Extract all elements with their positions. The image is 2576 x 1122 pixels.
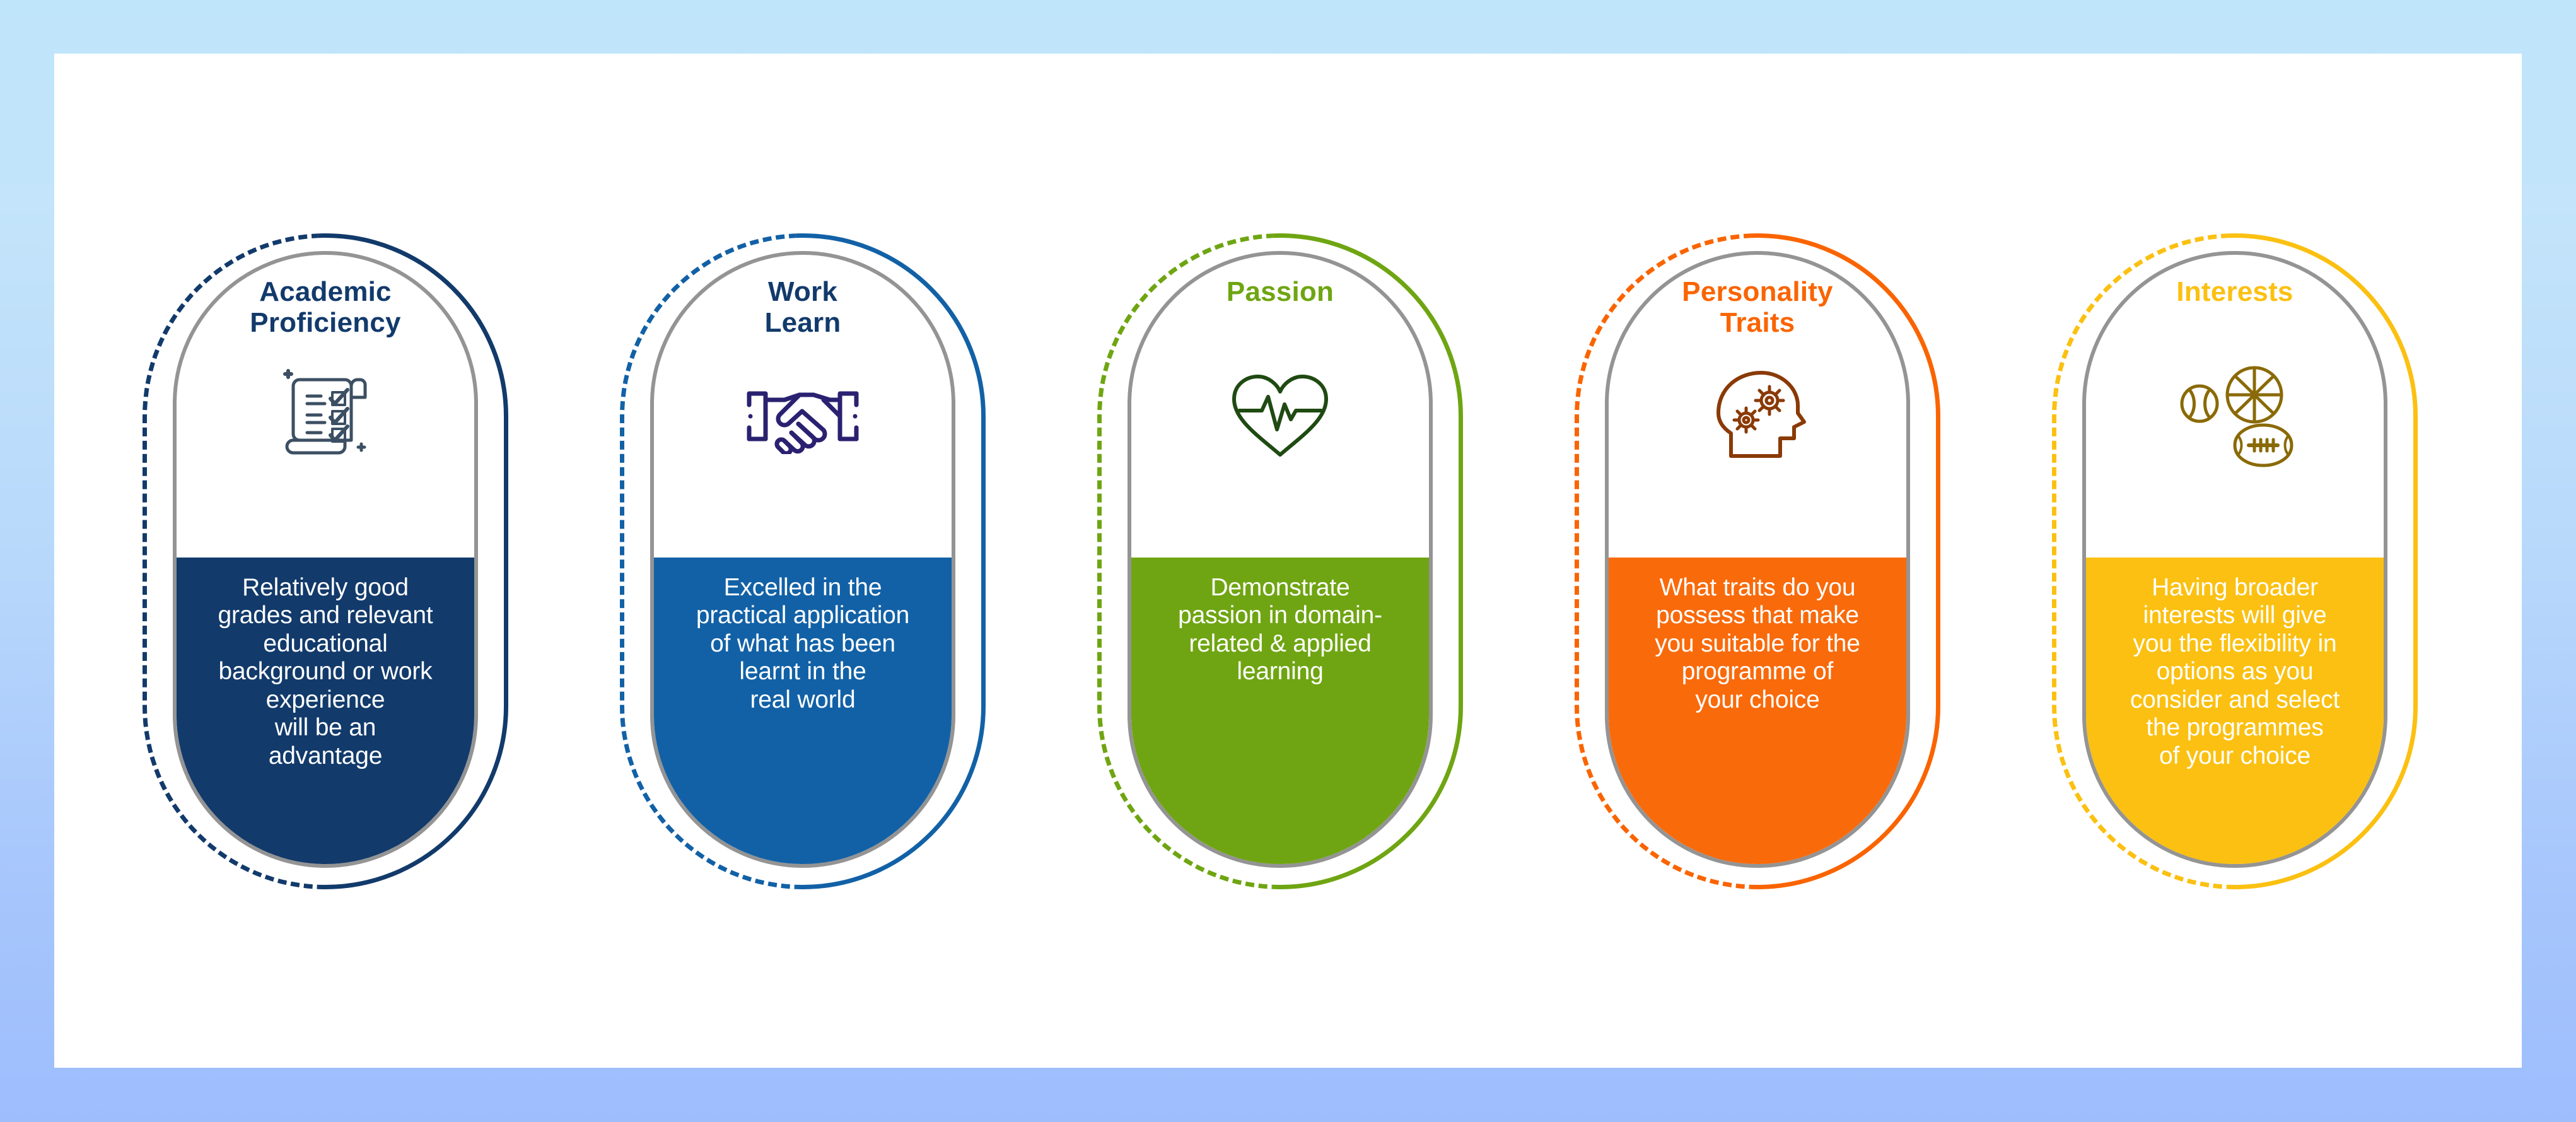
card-body-text: Having broader interests will give you t… bbox=[2130, 574, 2340, 770]
card-body-fill: Relatively good grades and relevant educ… bbox=[177, 558, 474, 864]
criteria-card-row: Relatively good grades and relevant educ… bbox=[54, 54, 2522, 1068]
heart-pulse-icon bbox=[1078, 363, 1482, 470]
sports-balls-icon bbox=[2033, 363, 2437, 470]
handshake-icon bbox=[601, 363, 1005, 470]
inner-gray-ring: Having broader interests will give you t… bbox=[2082, 251, 2387, 868]
card-title: Personality Traits bbox=[1556, 276, 1959, 339]
criteria-card-academic-proficiency[interactable]: Relatively good grades and relevant educ… bbox=[124, 227, 527, 908]
card-title: Passion bbox=[1078, 276, 1482, 307]
card-body-fill: Demonstrate passion in domain- related &… bbox=[1131, 558, 1429, 864]
criteria-card-work-learn[interactable]: Excelled in the practical application of… bbox=[601, 227, 1005, 908]
card-title: Work Learn bbox=[601, 276, 1005, 339]
inner-gray-ring: Relatively good grades and relevant educ… bbox=[173, 251, 478, 868]
content-panel: Relatively good grades and relevant educ… bbox=[54, 54, 2522, 1068]
criteria-card-personality-traits[interactable]: What traits do you possess that make you… bbox=[1556, 227, 1959, 908]
checklist-scroll-icon bbox=[124, 363, 527, 470]
card-title: Interests bbox=[2033, 276, 2437, 307]
inner-gray-ring: What traits do you possess that make you… bbox=[1605, 251, 1910, 868]
criteria-card-passion[interactable]: Demonstrate passion in domain- related &… bbox=[1078, 227, 1482, 908]
inner-gray-ring: Excelled in the practical application of… bbox=[650, 251, 955, 868]
card-body-text: What traits do you possess that make you… bbox=[1655, 574, 1860, 714]
head-gears-icon bbox=[1556, 363, 1959, 470]
card-title: Academic Proficiency bbox=[124, 276, 527, 339]
card-body-fill: Excelled in the practical application of… bbox=[654, 558, 952, 864]
criteria-card-interests[interactable]: Having broader interests will give you t… bbox=[2033, 227, 2437, 908]
card-body-fill: Having broader interests will give you t… bbox=[2086, 558, 2384, 864]
card-body-text: Excelled in the practical application of… bbox=[696, 574, 909, 714]
card-body-fill: What traits do you possess that make you… bbox=[1609, 558, 1906, 864]
card-body-text: Demonstrate passion in domain- related &… bbox=[1178, 574, 1382, 686]
card-body-text: Relatively good grades and relevant educ… bbox=[218, 574, 433, 770]
inner-gray-ring: Demonstrate passion in domain- related &… bbox=[1128, 251, 1433, 868]
